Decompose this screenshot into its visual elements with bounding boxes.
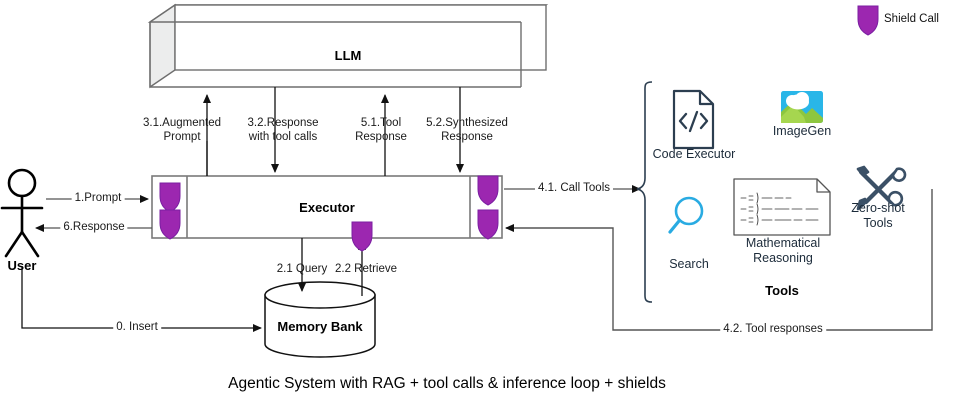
flow-label-4-1-call-tools: 4.1. Call Tools	[535, 182, 613, 196]
memory-bank-label: Memory Bank	[277, 319, 362, 334]
user-label: User	[8, 258, 37, 273]
user-actor	[2, 170, 42, 256]
tool-label-code-executor: Code Executor	[653, 147, 736, 162]
flow-label-2-1-query: 2.1 Query	[277, 263, 328, 277]
tool-label-math-reasoning-line2: Reasoning	[753, 251, 813, 266]
code-executor-icon	[674, 91, 713, 148]
imagegen-icon	[781, 91, 823, 123]
flow-label-3-1-line1: 3.1.Augmented	[143, 117, 221, 131]
tool-label-math-reasoning-line1: Mathematical	[746, 236, 820, 251]
executor-label: Executor	[299, 200, 355, 215]
diagram-canvas: LLM Executor Memory Bank User 3.1.Augmen…	[0, 0, 970, 411]
diagram-graphics	[0, 0, 970, 411]
shield-icon	[352, 222, 372, 251]
math-formula-doc-icon	[734, 179, 830, 235]
legend-label-shield-call: Shield Call	[884, 13, 939, 27]
diagram-caption: Agentic System with RAG + tool calls & i…	[228, 375, 666, 393]
flow-label-0-insert: 0. Insert	[113, 321, 161, 335]
tool-label-zero-shot-line1: Zero-shot	[851, 201, 905, 216]
flow-label-6-response: 6.Response	[60, 221, 127, 235]
flow-label-1-prompt: 1.Prompt	[72, 192, 125, 206]
magnifier-icon	[670, 198, 702, 232]
tools-group-label: Tools	[765, 283, 799, 298]
flow-label-3-2-line2: with tool calls	[249, 131, 317, 145]
flow-label-5-1-line2: Response	[355, 131, 407, 145]
tool-label-imagegen: ImageGen	[773, 124, 831, 139]
llm-node	[150, 5, 546, 87]
flow-label-5-2-line2: Response	[441, 131, 493, 145]
flow-arrows-llm	[207, 87, 460, 176]
llm-label: LLM	[335, 48, 362, 63]
tool-label-zero-shot-line2: Tools	[863, 216, 892, 231]
flow-label-3-2-line1: 3.2.Response	[248, 117, 319, 131]
tool-label-search: Search	[669, 257, 709, 272]
tools-group-brace	[637, 82, 652, 302]
shield-icon-legend	[858, 6, 878, 35]
flow-label-4-2-tool-responses: 4.2. Tool responses	[720, 323, 826, 337]
flow-label-5-2-line1: 5.2.Synthesized	[426, 117, 508, 131]
flow-label-3-1-line2: Prompt	[163, 131, 200, 145]
flow-label-5-1-line1: 5.1.Tool	[361, 117, 401, 131]
flow-label-2-2-retrieve: 2.2 Retrieve	[335, 263, 397, 277]
